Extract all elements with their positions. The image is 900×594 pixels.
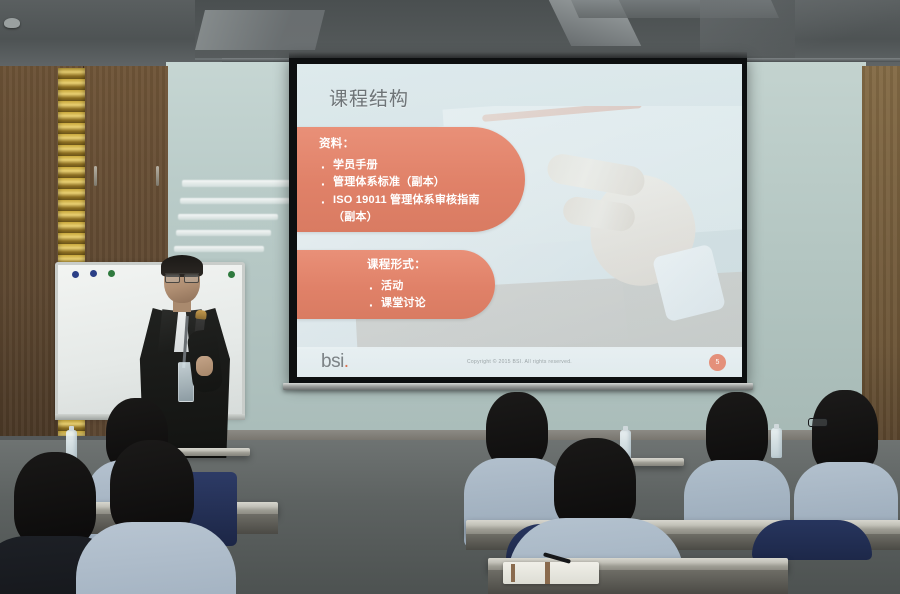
person-head <box>14 452 96 548</box>
glass-reflection-stripe <box>178 214 278 220</box>
slide-pill-format: 课程形式： 活动 课堂讨论 <box>297 250 495 319</box>
right-wall <box>745 62 865 442</box>
copyright-text: Copyright © 2015 BSI. All rights reserve… <box>467 359 572 365</box>
list-item: 学员手册 <box>319 157 525 174</box>
bsi-logo-dot: . <box>344 351 349 372</box>
cabinet-handle[interactable] <box>156 166 159 186</box>
list-item: 管理体系标准（副本） <box>319 174 525 191</box>
bsi-logo-text: bsi <box>321 351 344 372</box>
person-head <box>554 438 636 530</box>
cabinet-handle[interactable] <box>94 166 97 186</box>
magnet[interactable] <box>108 270 115 277</box>
slide-pill-materials: 资料： 学员手册 管理体系标准（副本） ISO 19011 管理体系审核指南 （… <box>297 127 525 232</box>
glass-reflection-stripe <box>180 198 290 204</box>
list-item: 课堂讨论 <box>367 295 495 312</box>
ceiling-panel-right <box>700 0 900 56</box>
classroom-scene: 课程结构 资料： 学员手册 管理体系标准（副本） ISO 19011 管理体系审… <box>0 0 900 594</box>
glasses-icon <box>808 418 828 427</box>
glass-reflection-stripe <box>182 180 302 187</box>
magnet[interactable] <box>72 271 79 278</box>
microphone-head <box>195 310 207 320</box>
list-item: ISO 19011 管理体系审核指南 <box>319 192 525 209</box>
list-item-continuation: （副本） <box>319 209 525 226</box>
magnet[interactable] <box>90 270 97 277</box>
notebook-spine <box>545 562 550 584</box>
audience-member-front <box>86 440 216 594</box>
projection-screen: 课程结构 资料： 学员手册 管理体系标准（副本） ISO 19011 管理体系审… <box>289 58 747 385</box>
audience-member <box>690 392 784 522</box>
water-bottle[interactable] <box>771 428 782 458</box>
ceiling-soffit-face <box>195 10 325 50</box>
smoke-detector-icon <box>4 18 20 28</box>
list-item: 活动 <box>367 278 495 295</box>
glass-reflection-stripe <box>174 246 264 252</box>
photo-finger <box>545 152 647 199</box>
presenter-hand <box>196 356 213 376</box>
bsi-logo: bsi. <box>321 351 349 373</box>
slide: 课程结构 资料： 学员手册 管理体系标准（副本） ISO 19011 管理体系审… <box>297 64 742 377</box>
pill-heading: 课程形式： <box>367 259 495 273</box>
person-torso <box>76 522 236 594</box>
pill-list: 活动 课堂讨论 <box>367 278 495 313</box>
slide-title: 课程结构 <box>329 84 409 111</box>
screen-bottom-bar <box>283 383 753 390</box>
slide-footer: bsi. Copyright © 2015 BSI. All rights re… <box>297 347 742 377</box>
chair[interactable] <box>752 520 872 560</box>
notebook[interactable] <box>503 562 599 584</box>
pill-list: 学员手册 管理体系标准（副本） ISO 19011 管理体系审核指南 （副本） <box>319 157 525 227</box>
glass-reflection-stripe <box>176 230 271 236</box>
notebook-spine <box>511 564 515 582</box>
slide-page-number: 5 <box>709 354 726 371</box>
photo-hand <box>555 142 705 292</box>
pill-heading: 资料： <box>319 138 525 152</box>
audience-member <box>798 390 894 520</box>
glasses-icon <box>165 273 199 281</box>
